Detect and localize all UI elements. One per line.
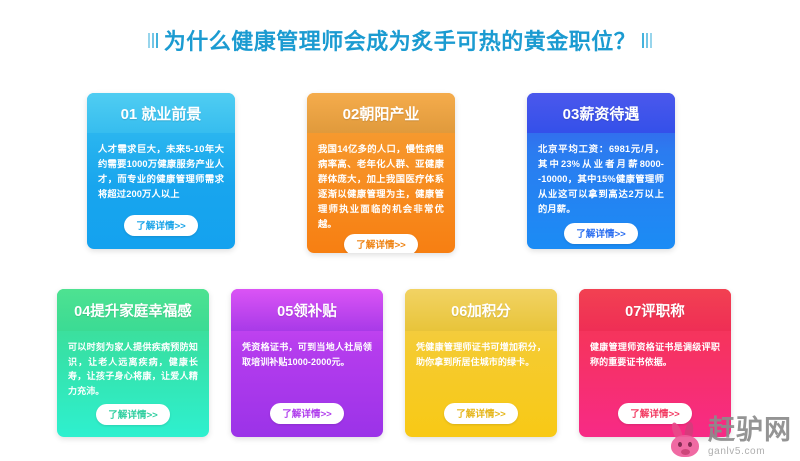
card-01-description: 人才需求巨大，未来5-10年大约需要1000万健康服务产业人才，而专业的健康管理…	[98, 142, 224, 202]
card-02-body: 我国14亿多的人口，慢性病患病率高、老年化人群、亚健康群体庞大，加上我国医疗体系…	[307, 133, 455, 232]
card-01-details-button[interactable]: 了解详情>>	[124, 215, 198, 236]
card-06-heading: 06加积分	[405, 289, 557, 331]
card-02-sunrise-industry[interactable]: 02朝阳产业 我国14亿多的人口，慢性病患病率高、老年化人群、亚健康群体庞大，加…	[307, 93, 455, 253]
title-left-bars-icon	[148, 33, 158, 48]
card-02-description: 我国14亿多的人口，慢性病患病率高、老年化人群、亚健康群体庞大，加上我国医疗体系…	[318, 142, 444, 232]
card-03-heading: 03薪资待遇	[527, 93, 675, 133]
card-05-subsidy[interactable]: 05领补贴 凭资格证书，可到当地人社局领取培训补贴1000-2000元。 了解详…	[231, 289, 383, 437]
card-05-button-wrap: 了解详情>>	[231, 397, 383, 437]
card-04-family-happiness[interactable]: 04提升家庭幸福感 可以时刻为家人提供疾病预防知识，让老人远离疾病，健康长寿，让…	[57, 289, 209, 437]
card-07-button-wrap: 了解详情>>	[579, 397, 731, 437]
card-07-body: 健康管理师资格证书是调级评职称的重要证书依据。	[579, 331, 731, 397]
page-title-bar: 为什么健康管理师会成为炙手可热的黄金职位？	[0, 24, 800, 56]
card-03-details-button[interactable]: 了解详情>>	[564, 223, 638, 244]
card-07-description: 健康管理师资格证书是调级评职称的重要证书依据。	[590, 340, 720, 369]
card-04-details-button[interactable]: 了解详情>>	[96, 404, 170, 425]
card-04-body: 可以时刻为家人提供疾病预防知识，让老人远离疾病，健康长寿，让孩子身心将康，让爱人…	[57, 331, 209, 398]
page-title: 为什么健康管理师会成为炙手可热的黄金职位？	[164, 24, 637, 56]
card-06-button-wrap: 了解详情>>	[405, 397, 557, 437]
card-05-description: 凭资格证书，可到当地人社局领取培训补贴1000-2000元。	[242, 340, 372, 369]
card-01-heading: 01 就业前景	[87, 93, 235, 133]
poster-root: 为什么健康管理师会成为炙手可热的黄金职位？ 01 就业前景 人才需求巨大，未来5…	[0, 0, 800, 461]
card-05-heading: 05领补贴	[231, 289, 383, 331]
card-04-button-wrap: 了解详情>>	[57, 398, 209, 437]
card-03-body: 北京平均工资：6981元/月，其中23%从业者月薪8000--10000，其中1…	[527, 133, 675, 217]
card-05-body: 凭资格证书，可到当地人社局领取培训补贴1000-2000元。	[231, 331, 383, 397]
title-right-bars-icon	[642, 33, 652, 48]
card-07-title-evaluation[interactable]: 07评职称 健康管理师资格证书是调级评职称的重要证书依据。 了解详情>>	[579, 289, 731, 437]
card-06-details-button[interactable]: 了解详情>>	[444, 403, 518, 424]
card-01-employment-outlook[interactable]: 01 就业前景 人才需求巨大，未来5-10年大约需要1000万健康服务产业人才，…	[87, 93, 235, 249]
card-02-button-wrap: 了解详情>>	[307, 232, 455, 253]
card-04-description: 可以时刻为家人提供疾病预防知识，让老人远离疾病，健康长寿，让孩子身心将康，让爱人…	[68, 340, 198, 398]
card-02-heading: 02朝阳产业	[307, 93, 455, 133]
card-06-body: 凭健康管理师证书可增加积分，助你拿到所居住城市的绿卡。	[405, 331, 557, 397]
card-01-body: 人才需求巨大，未来5-10年大约需要1000万健康服务产业人才，而专业的健康管理…	[87, 133, 235, 209]
card-07-heading: 07评职称	[579, 289, 731, 331]
card-02-details-button[interactable]: 了解详情>>	[344, 234, 418, 253]
card-07-details-button[interactable]: 了解详情>>	[618, 403, 692, 424]
card-06-description: 凭健康管理师证书可增加积分，助你拿到所居住城市的绿卡。	[416, 340, 546, 369]
card-06-points[interactable]: 06加积分 凭健康管理师证书可增加积分，助你拿到所居住城市的绿卡。 了解详情>>	[405, 289, 557, 437]
card-03-salary[interactable]: 03薪资待遇 北京平均工资：6981元/月，其中23%从业者月薪8000--10…	[527, 93, 675, 249]
card-01-button-wrap: 了解详情>>	[87, 209, 235, 249]
card-05-details-button[interactable]: 了解详情>>	[270, 403, 344, 424]
card-03-button-wrap: 了解详情>>	[527, 217, 675, 249]
card-03-description: 北京平均工资：6981元/月，其中23%从业者月薪8000--10000，其中1…	[538, 142, 664, 217]
card-04-heading: 04提升家庭幸福感	[57, 289, 209, 331]
watermark-url: ganlv5.com	[708, 446, 765, 457]
